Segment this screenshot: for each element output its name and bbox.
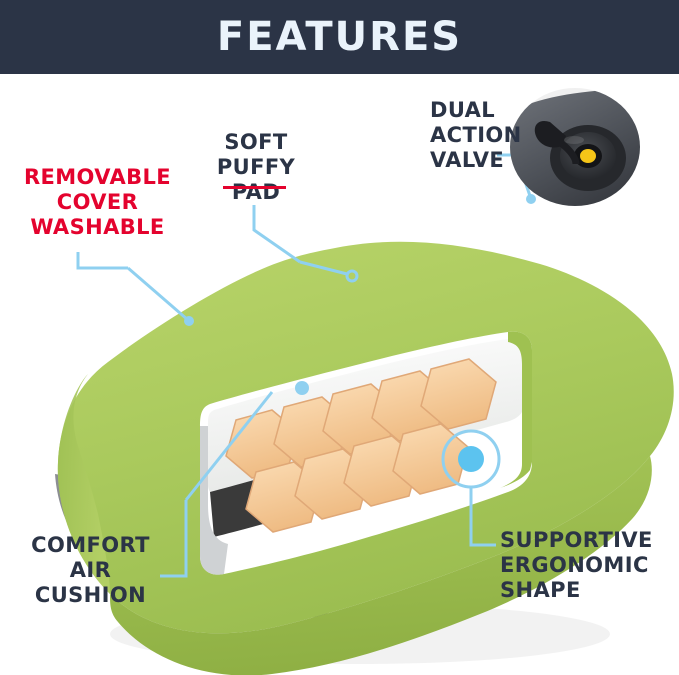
callout-label-comfort-air-cushion: COMFORT AIR CUSHION bbox=[8, 533, 173, 608]
soft-puffy-pad-underline bbox=[223, 186, 286, 189]
callout-label-removable-cover: REMOVABLE COVER WASHABLE bbox=[10, 165, 185, 240]
callout-label-soft-puffy-pad: SOFT PUFFY PAD bbox=[196, 130, 316, 205]
product-feature-infographic: FEATURES bbox=[0, 0, 679, 675]
callout-label-supportive-ergonomic-shape: SUPPORTIVE ERGONOMIC SHAPE bbox=[500, 528, 675, 603]
page-title: FEATURES bbox=[0, 14, 679, 60]
callout-label-dual-action-valve: DUAL ACTION VALVE bbox=[430, 98, 550, 173]
valve-yellow-button bbox=[580, 149, 596, 163]
valve-highlight bbox=[564, 136, 584, 144]
